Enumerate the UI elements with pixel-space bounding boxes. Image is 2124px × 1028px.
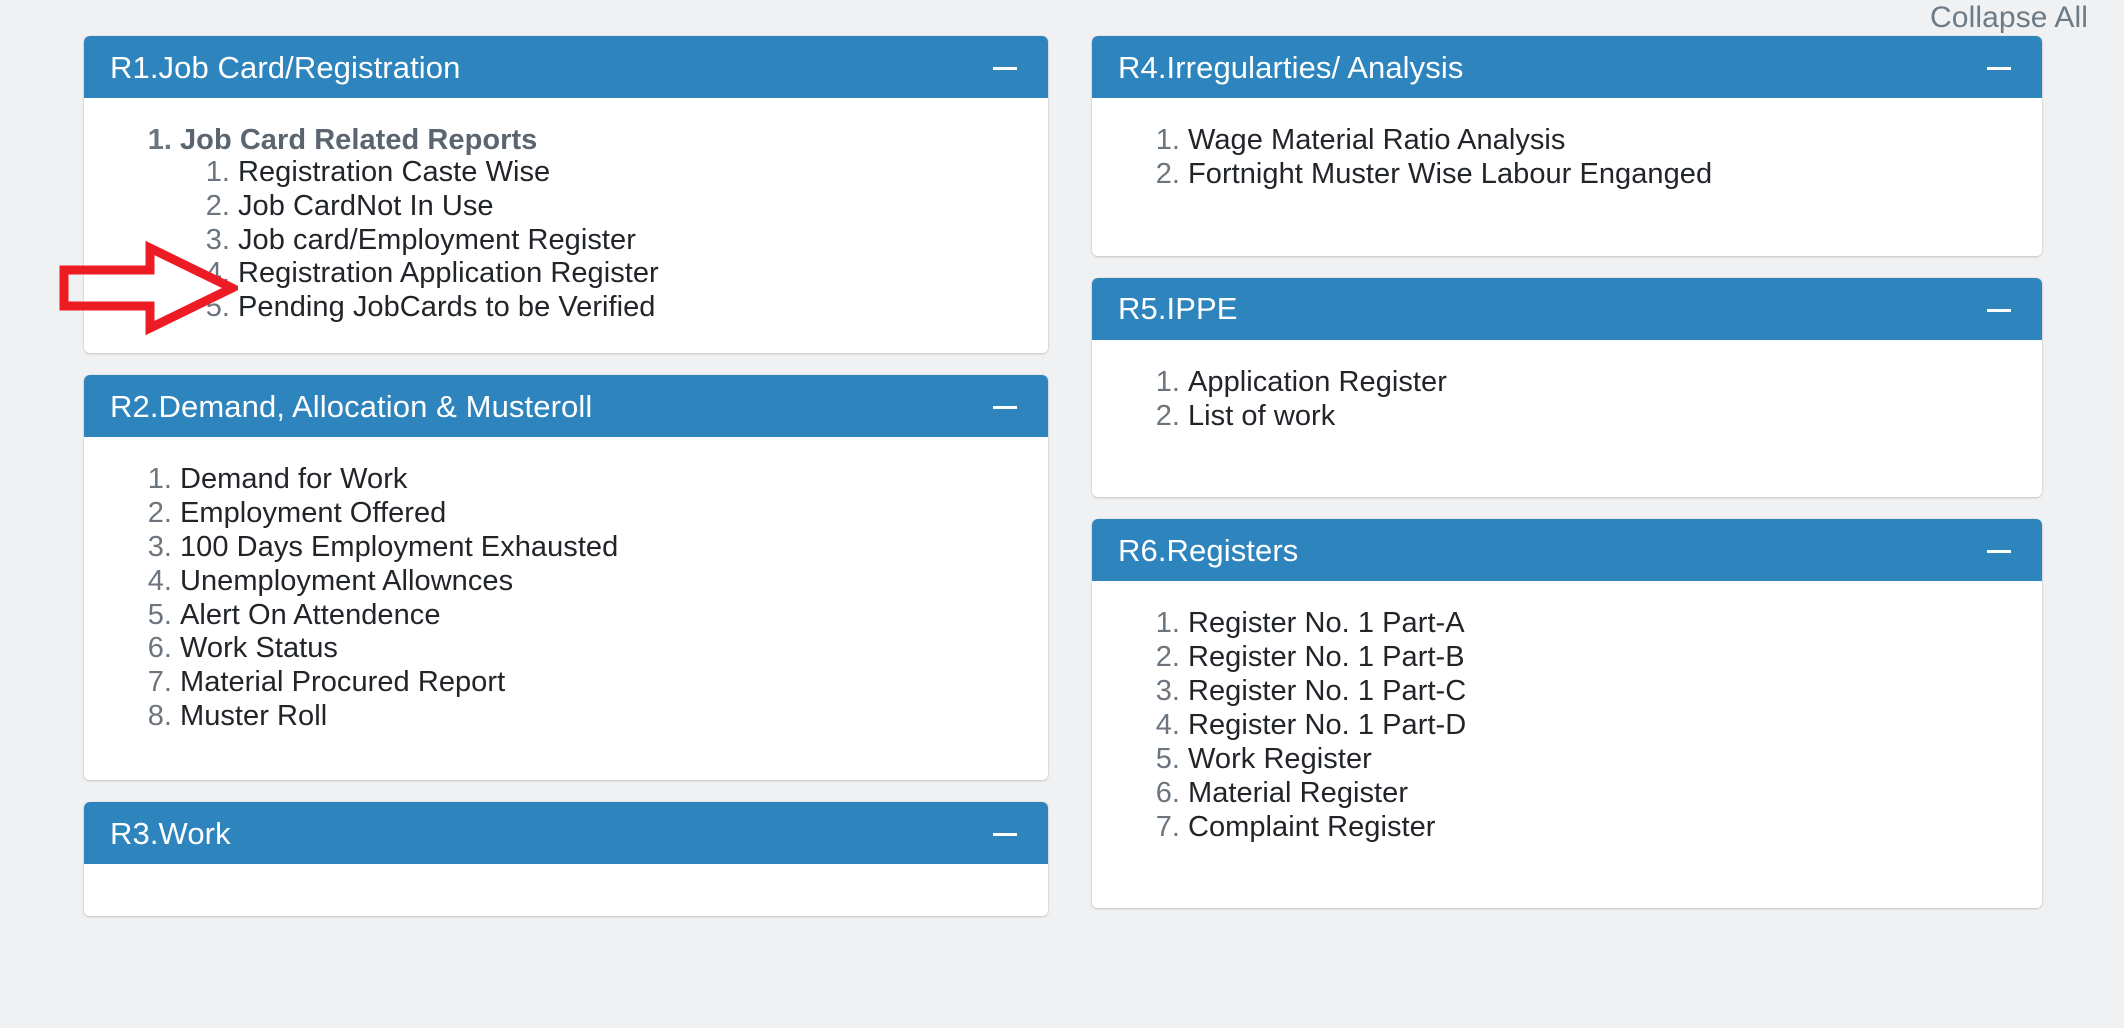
panel-header-r3[interactable]: R3.Work — [84, 802, 1048, 864]
list-item[interactable]: Fortnight Muster Wise Labour Enganged — [1188, 158, 2016, 192]
list-item[interactable]: Pending JobCards to be Verified — [238, 291, 1022, 325]
panel-body-r3 — [84, 864, 1048, 916]
list-item[interactable]: Application Register — [1188, 366, 2016, 400]
list-item[interactable]: Registration Caste Wise — [238, 156, 1022, 190]
panel-title-r6: R6.Registers — [1118, 535, 1298, 566]
panels-grid: R1.Job Card/Registration Job Card Relate… — [0, 36, 2124, 938]
list-item-label: Material Register — [1188, 777, 1408, 809]
list-item-label: Unemployment Allownces — [180, 565, 513, 597]
list-item[interactable]: Alert On Attendence — [180, 599, 1022, 633]
report-sublist-r1: Registration Caste Wise Job CardNot In U… — [180, 156, 1022, 325]
panel-header-r1[interactable]: R1.Job Card/Registration — [84, 36, 1048, 98]
panel-body-r6: Register No. 1 Part-A Register No. 1 Par… — [1092, 581, 2042, 908]
report-list-r4: Wage Material Ratio Analysis Fortnight M… — [1118, 124, 2016, 192]
list-item-label: Pending JobCards to be Verified — [238, 291, 656, 323]
list-item[interactable]: Register No. 1 Part-D — [1188, 709, 2016, 743]
list-item[interactable]: Demand for Work — [180, 463, 1022, 497]
collapse-all-bar: Collapse All — [0, 0, 2124, 36]
report-list-r5: Application Register List of work — [1118, 366, 2016, 434]
panel-title-r5: R5.IPPE — [1118, 293, 1238, 324]
panel-header-r6[interactable]: R6.Registers — [1092, 519, 2042, 581]
list-item[interactable]: Muster Roll — [180, 700, 1022, 734]
report-list-r2: Demand for Work Employment Offered 100 D… — [110, 463, 1022, 734]
list-item-label: Work Register — [1188, 743, 1372, 775]
left-column: R1.Job Card/Registration Job Card Relate… — [0, 36, 1062, 938]
panel-title-r2: R2.Demand, Allocation & Musteroll — [110, 391, 592, 422]
list-item[interactable]: Employment Offered — [180, 497, 1022, 531]
panel-r6-registers: R6.Registers Register No. 1 Part-A Regis… — [1092, 519, 2042, 908]
list-item-label: Job card/Employment Register — [238, 224, 636, 256]
list-item-label: Register No. 1 Part-A — [1188, 607, 1465, 639]
list-item-label: Registration Caste Wise — [238, 156, 550, 188]
minus-icon[interactable] — [1984, 54, 2014, 80]
group-label: Job Card Related Reports — [180, 124, 537, 156]
minus-icon[interactable] — [1984, 296, 2014, 322]
list-item-label: Muster Roll — [180, 700, 327, 732]
panel-body-r5: Application Register List of work — [1092, 340, 2042, 498]
list-item-label: Alert On Attendence — [180, 599, 441, 631]
list-item-label: Material Procured Report — [180, 666, 505, 698]
panel-body-r1: Job Card Related Reports Registration Ca… — [84, 98, 1048, 353]
list-group-job-card-related-reports: Job Card Related Reports Registration Ca… — [180, 124, 1022, 327]
list-item-label: Complaint Register — [1188, 811, 1436, 843]
list-item[interactable]: Register No. 1 Part-A — [1188, 607, 2016, 641]
list-item[interactable]: List of work — [1188, 400, 2016, 434]
list-item-label: Fortnight Muster Wise Labour Enganged — [1188, 158, 1712, 190]
collapse-all-link[interactable]: Collapse All — [1930, 0, 2088, 36]
panel-title-r3: R3.Work — [110, 818, 231, 849]
list-item-label: Demand for Work — [180, 463, 407, 495]
panel-r5-ippe: R5.IPPE Application Register List of wor… — [1092, 278, 2042, 498]
list-item[interactable]: Work Register — [1188, 743, 2016, 777]
panel-r1-job-card-registration: R1.Job Card/Registration Job Card Relate… — [84, 36, 1048, 353]
reports-page: Collapse All R1.Job Card/Registration Jo… — [0, 0, 2124, 1028]
panel-header-r2[interactable]: R2.Demand, Allocation & Musteroll — [84, 375, 1048, 437]
panel-title-r4: R4.Irregularties/ Analysis — [1118, 52, 1463, 83]
report-list-r1: Job Card Related Reports Registration Ca… — [110, 124, 1022, 327]
right-column: R4.Irregularties/ Analysis Wage Material… — [1062, 36, 2124, 938]
list-item-job-card-employment-register[interactable]: Job card/Employment Register — [238, 224, 1022, 258]
list-item-label: Register No. 1 Part-B — [1188, 641, 1465, 673]
list-item-label: Register No. 1 Part-C — [1188, 675, 1466, 707]
panel-body-r2: Demand for Work Employment Offered 100 D… — [84, 437, 1048, 780]
list-item-label: List of work — [1188, 400, 1335, 432]
panel-body-r4: Wage Material Ratio Analysis Fortnight M… — [1092, 98, 2042, 256]
list-item[interactable]: Complaint Register — [1188, 811, 2016, 845]
list-item[interactable]: Wage Material Ratio Analysis — [1188, 124, 2016, 158]
panel-header-r4[interactable]: R4.Irregularties/ Analysis — [1092, 36, 2042, 98]
list-item-label: Application Register — [1188, 366, 1447, 398]
list-item[interactable]: Work Status — [180, 632, 1022, 666]
minus-icon[interactable] — [990, 54, 1020, 80]
list-item[interactable]: 100 Days Employment Exhausted — [180, 531, 1022, 565]
list-item[interactable]: Unemployment Allownces — [180, 565, 1022, 599]
list-item[interactable]: Register No. 1 Part-C — [1188, 675, 2016, 709]
list-item-label: Register No. 1 Part-D — [1188, 709, 1466, 741]
list-item[interactable]: Material Procured Report — [180, 666, 1022, 700]
panel-r3-work: R3.Work — [84, 802, 1048, 916]
minus-icon[interactable] — [990, 820, 1020, 846]
minus-icon[interactable] — [990, 393, 1020, 419]
list-item-label: Wage Material Ratio Analysis — [1188, 124, 1565, 156]
list-item[interactable]: Job CardNot In Use — [238, 190, 1022, 224]
report-list-r6: Register No. 1 Part-A Register No. 1 Par… — [1118, 607, 2016, 844]
list-item[interactable]: Register No. 1 Part-B — [1188, 641, 2016, 675]
panel-header-r5[interactable]: R5.IPPE — [1092, 278, 2042, 340]
list-item-label: Registration Application Register — [238, 257, 659, 289]
panel-r4-irregularties-analysis: R4.Irregularties/ Analysis Wage Material… — [1092, 36, 2042, 256]
list-item-label: 100 Days Employment Exhausted — [180, 531, 618, 563]
list-item[interactable]: Registration Application Register — [238, 257, 1022, 291]
panel-r2-demand-allocation-musteroll: R2.Demand, Allocation & Musteroll Demand… — [84, 375, 1048, 780]
list-item-label: Job CardNot In Use — [238, 190, 494, 222]
minus-icon[interactable] — [1984, 537, 2014, 563]
panel-title-r1: R1.Job Card/Registration — [110, 52, 460, 83]
list-item[interactable]: Material Register — [1188, 777, 2016, 811]
list-item-label: Employment Offered — [180, 497, 446, 529]
list-item-label: Work Status — [180, 632, 338, 664]
